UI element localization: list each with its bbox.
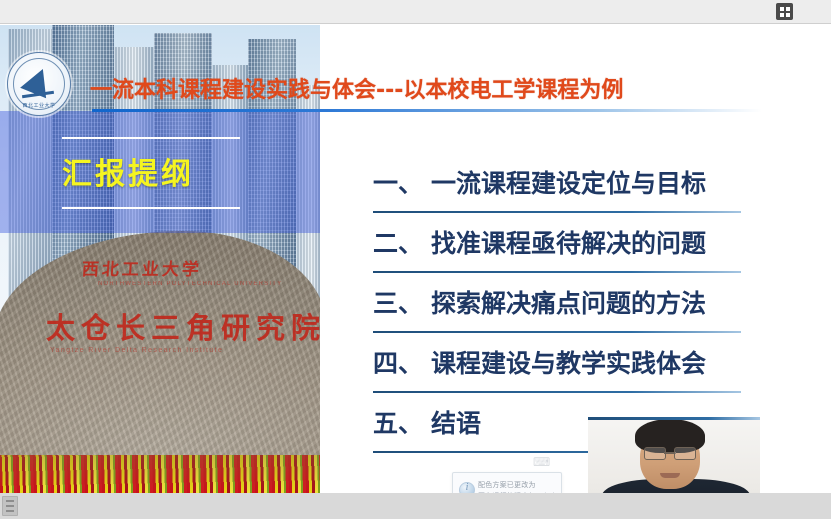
outline-item-number: 三、 — [373, 284, 423, 320]
outline-item-number: 四、 — [373, 344, 423, 380]
monument-institute-name: 太仓长三角研究院 — [46, 305, 316, 347]
outline-item-label: 一流课程建设定位与目标 — [431, 164, 706, 200]
logo-label: 西北工业大学 — [8, 102, 70, 109]
outline-item-number: 二、 — [373, 224, 423, 260]
monument-university-name-en: NORTHWESTERN POLYTECHNICAL UNIVERSITY — [98, 281, 298, 287]
left-panel-heading: 汇报提纲 — [62, 149, 272, 193]
campus-monument-stone: 西北工业大学 NORTHWESTERN POLYTECHNICAL UNIVER… — [0, 231, 320, 471]
heading-rule-top — [62, 137, 240, 139]
presenter-glasses-icon — [644, 447, 696, 458]
outline-item-4[interactable]: 四、 课程建设与教学实践体会 — [373, 333, 741, 393]
outline-item-2[interactable]: 二、 找准课程亟待解决的问题 — [373, 213, 741, 273]
presenter-video-overlay[interactable] — [588, 417, 760, 493]
outline-item-label: 探索解决痛点问题的方法 — [431, 284, 706, 320]
hamburger-menu-icon[interactable] — [2, 496, 18, 516]
video-top-divider — [588, 417, 760, 420]
bottom-chrome-bar — [0, 493, 831, 519]
top-chrome-bar — [0, 0, 831, 24]
windows-notification-toast[interactable]: 配色方案已更改为 正在运行的程序与 Windo 透明度此功能和边框效果 — [452, 472, 562, 493]
outline-item-number: 五、 — [373, 404, 423, 440]
outline-item-label: 课程建设与教学实践体会 — [431, 344, 706, 380]
outline-list: 一、 一流课程建设定位与目标 二、 找准课程亟待解决的问题 三、 探索解决痛点问… — [373, 153, 741, 453]
heading-rule-bottom — [62, 207, 240, 209]
left-panel-blue-band: 汇报提纲 — [0, 111, 320, 233]
faint-cursor-glyph: ⌨ — [533, 455, 550, 469]
presenter-mouth — [660, 473, 680, 478]
outline-item-label: 找准课程亟待解决的问题 — [431, 224, 706, 260]
toast-line-1: 配色方案已更改为 — [478, 480, 536, 490]
outline-item-1[interactable]: 一、 一流课程建设定位与目标 — [373, 153, 741, 213]
monument-university-name: 西北工业大学 — [81, 255, 293, 280]
grid-view-button[interactable] — [776, 3, 793, 20]
outline-item-3[interactable]: 三、 探索解决痛点问题的方法 — [373, 273, 741, 333]
slide-title: 一流本科课程建设实践与体会---以本校电工学课程为例 — [90, 72, 623, 104]
grid-four-squares-icon — [780, 7, 790, 17]
slide-title-underline — [92, 109, 762, 112]
outline-item-number: 一、 — [373, 164, 423, 200]
flower-bed — [0, 455, 320, 493]
monument-institute-name-en: Yangtze River Delta Research Institute — [50, 347, 310, 354]
info-icon — [459, 482, 475, 493]
presentation-slide: 西北工业大学 NORTHWESTERN POLYTECHNICAL UNIVER… — [0, 25, 831, 493]
university-logo: 西北工业大学 — [7, 52, 71, 116]
outline-item-label: 结语 — [431, 404, 481, 440]
